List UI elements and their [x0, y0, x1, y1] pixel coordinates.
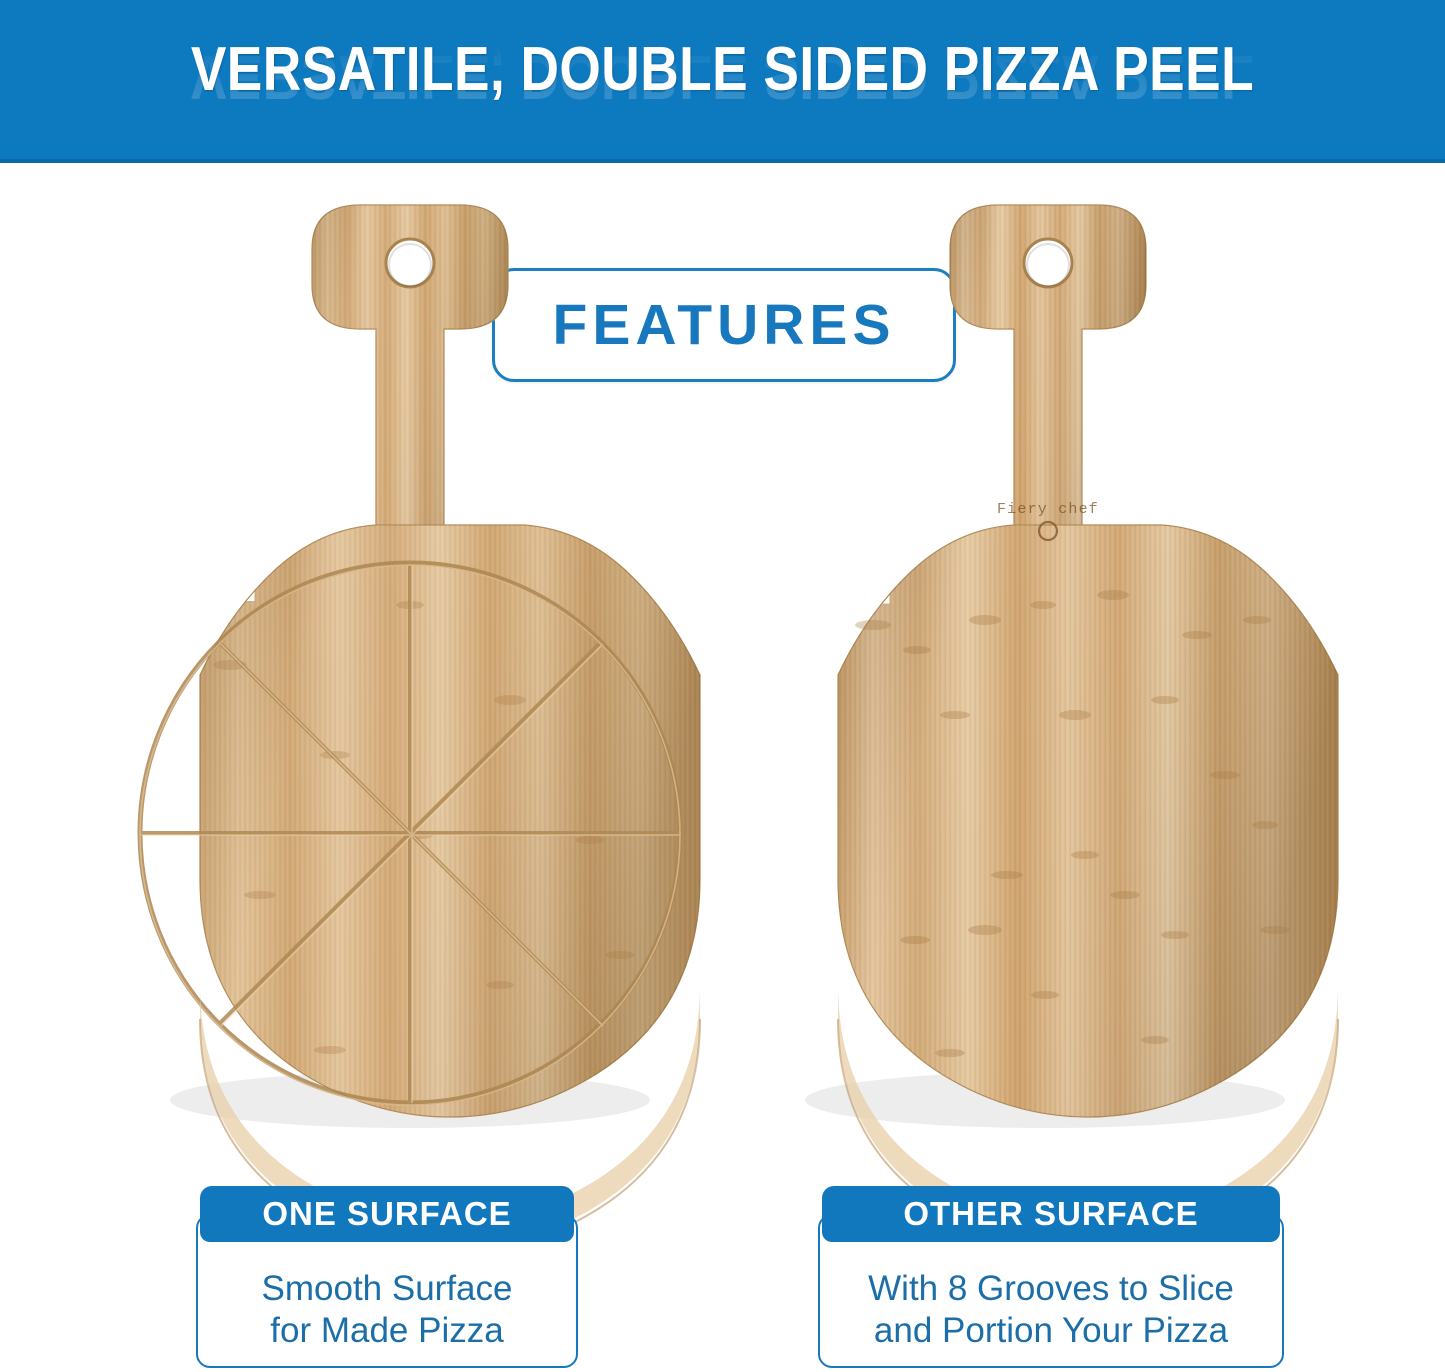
product-image-smooth-peel: Fiery chef — [745, 195, 1365, 1155]
peel-blade — [140, 525, 700, 1253]
label-description-line2: for Made Pizza — [270, 1311, 503, 1350]
label-description-line1: Smooth Surface — [262, 1269, 513, 1308]
peel-blade: Fiery chef — [838, 501, 1338, 1253]
label-heading-one-surface: ONE SURFACE — [200, 1186, 574, 1242]
header-banner: VERSATILE, DOUBLE SIDED PIZZA PEEL VERSA… — [0, 0, 1445, 163]
label-description-line1: With 8 Grooves to Slice — [868, 1269, 1234, 1308]
label-card-other-surface: With 8 Grooves to Slice and Portion Your… — [818, 1186, 1284, 1368]
label-description: Smooth Surface for Made Pizza — [254, 1268, 521, 1352]
product-image-grooved-peel — [80, 195, 700, 1155]
label-card-one-surface: Smooth Surface for Made Pizza ONE SURFAC… — [196, 1186, 578, 1368]
label-description-line2: and Portion Your Pizza — [874, 1311, 1228, 1350]
peel-handle — [312, 205, 508, 569]
brand-text: Fiery chef — [997, 501, 1099, 518]
label-heading-other-surface: OTHER SURFACE — [822, 1186, 1280, 1242]
page-title-reflection: VERSATILE, DOUBLE SIDED PIZZA PEEL — [101, 41, 1344, 112]
label-description: With 8 Grooves to Slice and Portion Your… — [860, 1268, 1242, 1352]
